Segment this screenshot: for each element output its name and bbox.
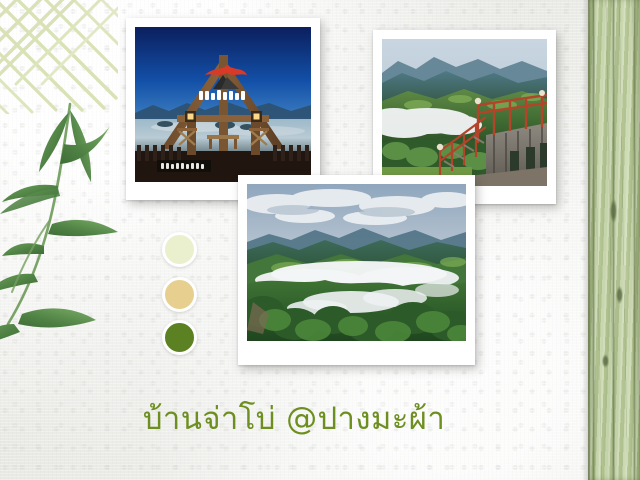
photo-ban-ja-bo-gate-image bbox=[135, 27, 311, 182]
green-wood-plank bbox=[588, 0, 640, 480]
photo-sea-of-mist[interactable] bbox=[238, 175, 475, 365]
photo-viewpoint-deck-image bbox=[382, 39, 547, 186]
photo-sea-of-mist-image bbox=[247, 184, 466, 341]
swatch-olive bbox=[162, 320, 197, 355]
swatch-tan bbox=[162, 277, 197, 312]
bamboo-leaf-branch bbox=[0, 96, 128, 366]
slide-caption: บ้านจ่าโบ่ @ปางมะผ้า bbox=[0, 396, 588, 442]
slide-canvas: บ้านจ่าโบ่ @ปางมะผ้า bbox=[0, 0, 640, 480]
swatch-pale-green bbox=[162, 232, 197, 267]
photo-ban-ja-bo-gate[interactable] bbox=[126, 18, 320, 200]
